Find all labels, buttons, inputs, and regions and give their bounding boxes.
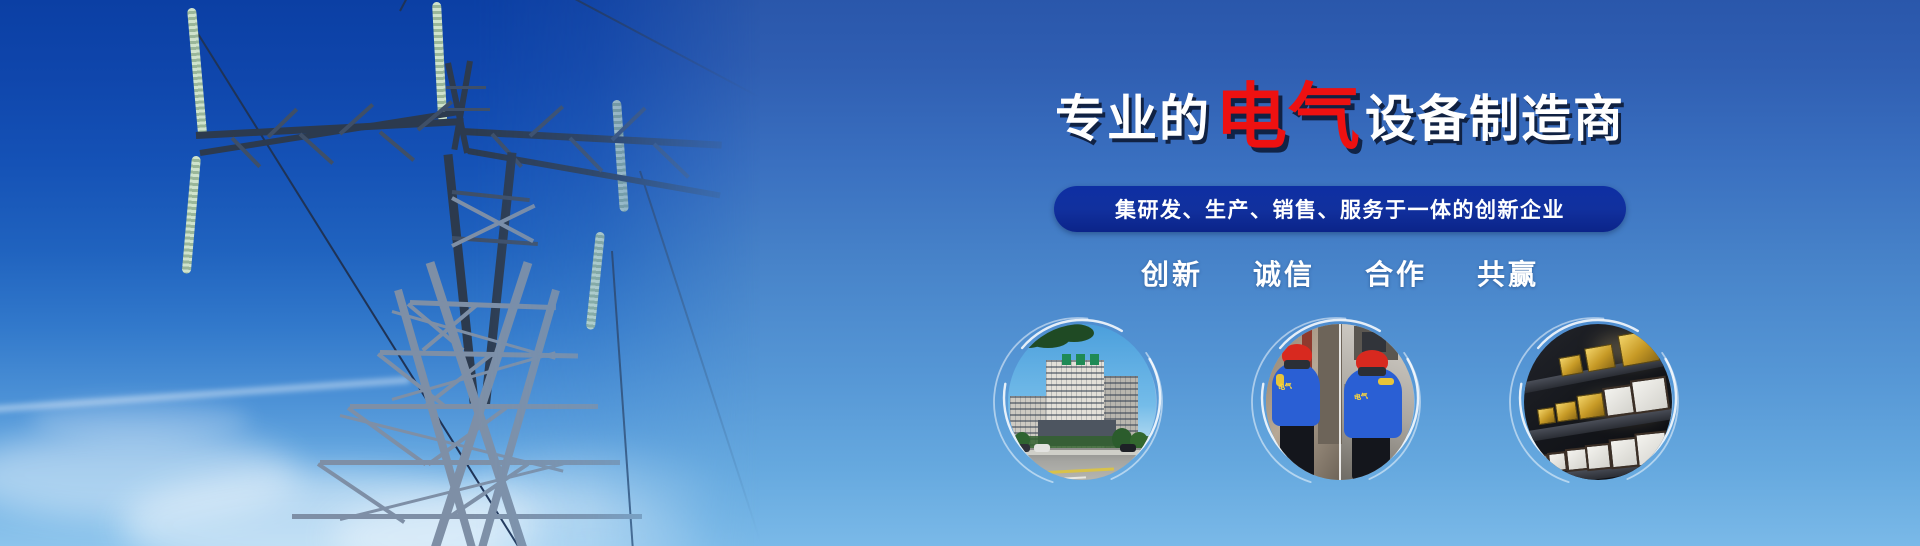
uniform-badge: 电气 <box>1277 381 1292 393</box>
power-line <box>189 20 593 546</box>
photo-circle-list: 电气 电气 <box>760 312 1920 492</box>
keyword-innovation: 创新 <box>1141 253 1203 293</box>
lattice-brace <box>446 86 486 89</box>
office-building-photo <box>1008 324 1156 480</box>
power-line <box>560 0 760 152</box>
lattice-brace <box>320 460 620 465</box>
insulator-string <box>586 232 605 330</box>
power-line <box>639 171 760 546</box>
keyword-integrity: 诚信 <box>1253 253 1315 293</box>
subtitle-pill: 集研发、生产、销售、服务于一体的创新企业 <box>1054 186 1626 232</box>
lattice-brace <box>452 190 530 202</box>
photo-circle-certificates[interactable] <box>1508 312 1688 492</box>
uniform-badge: 电气 <box>1353 391 1368 403</box>
insulator-string <box>182 156 201 274</box>
headline-part-1: 专业的 <box>1055 91 1211 147</box>
lattice-brace <box>653 143 690 179</box>
transmission-tower-photo <box>0 0 760 546</box>
subtitle-text: 集研发、生产、销售、服务于一体的创新企业 <box>1115 194 1565 224</box>
headline-part-2: 设备制造商 <box>1365 91 1625 147</box>
insulator-string <box>612 100 629 212</box>
keyword-list: 创新 诚信 合作 共赢 <box>760 253 1920 293</box>
lattice-brace <box>350 404 598 409</box>
workers-photo: 电气 电气 <box>1266 324 1414 480</box>
photo-circle-workers[interactable]: 电气 电气 <box>1250 312 1430 492</box>
insulator-string <box>187 8 207 136</box>
certificate-wall-photo <box>1524 324 1672 480</box>
lattice-brace <box>377 352 447 408</box>
keyword-cooperation: 合作 <box>1365 253 1427 293</box>
hero-banner: 专业的电气设备制造商 集研发、生产、销售、服务于一体的创新企业 创新 诚信 合作… <box>0 0 1920 546</box>
lattice-brace <box>410 300 556 310</box>
pylon-structure <box>0 0 760 546</box>
power-line <box>399 0 542 11</box>
lattice-brace <box>444 108 490 111</box>
photo-circle-office-building[interactable] <box>992 312 1172 492</box>
keyword-winwin: 共赢 <box>1477 253 1539 293</box>
lattice-brace <box>347 406 427 466</box>
lattice-brace <box>379 130 415 161</box>
page-title: 专业的电气设备制造商 <box>760 76 1920 148</box>
headline-highlight: 电气 <box>1215 78 1361 158</box>
banner-content: 专业的电气设备制造商 集研发、生产、销售、服务于一体的创新企业 创新 诚信 合作… <box>760 0 1920 546</box>
power-line <box>611 251 638 546</box>
